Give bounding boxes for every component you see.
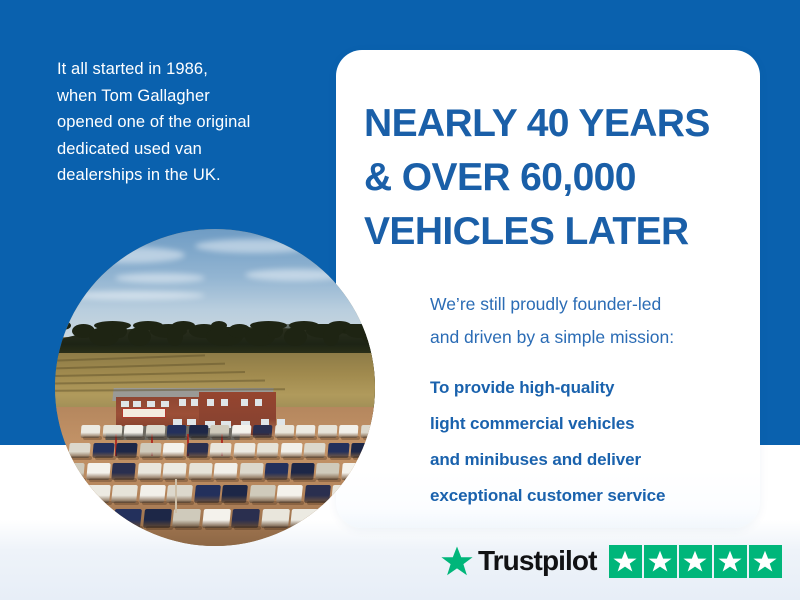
headline-line-3: VEHICLES LATER: [364, 205, 744, 259]
mission-line-1: To provide high-quality: [430, 370, 760, 406]
photo-van: [139, 443, 161, 458]
photo-van: [139, 485, 166, 503]
photo-van: [143, 509, 172, 528]
photo-van: [317, 425, 337, 438]
photo-tree: [55, 321, 71, 330]
trustpilot-star-tile: [679, 545, 712, 578]
lede-line-1: We’re still proudly founder-led: [430, 288, 750, 321]
trustpilot-star-tile: [714, 545, 747, 578]
photo-van: [231, 509, 260, 528]
trustpilot-star-rating: [609, 545, 782, 578]
photo-van: [186, 443, 208, 458]
photo-van: [320, 509, 349, 528]
photo-van: [256, 443, 278, 458]
star-icon: [718, 550, 742, 573]
photo-van: [239, 463, 263, 480]
photo-van: [360, 425, 375, 438]
star-icon: [648, 550, 672, 573]
intro-line-2: when Tom Gallagher: [57, 83, 319, 110]
intro-line-5: dealerships in the UK.: [57, 162, 319, 189]
photo-building-sign: [122, 408, 166, 418]
dealership-photo: [55, 229, 375, 546]
lede-line-2: and driven by a simple mission:: [430, 321, 750, 354]
photo-cloud: [195, 239, 315, 253]
photo-van: [209, 443, 231, 458]
photo-van: [167, 425, 187, 438]
photo-van: [341, 463, 365, 480]
photo-window: [147, 401, 155, 407]
page-title: NEARLY 40 YEARS & OVER 60,000 VEHICLES L…: [364, 97, 744, 259]
photo-van: [280, 443, 302, 458]
photo-tree: [211, 321, 227, 330]
photo-van: [92, 443, 114, 458]
photo-van: [188, 425, 208, 438]
photo-van: [166, 485, 193, 503]
photo-van: [60, 463, 84, 480]
promo-banner: It all started in 1986, when Tom Gallagh…: [0, 0, 800, 600]
photo-van: [304, 485, 331, 503]
trustpilot-wordmark: Trustpilot: [478, 547, 597, 575]
photo-van: [213, 463, 237, 480]
photo-van: [115, 443, 137, 458]
photo-window: [121, 401, 129, 407]
trustpilot-badge[interactable]: Trustpilot: [441, 541, 782, 581]
photo-van: [111, 463, 135, 480]
photo-van: [162, 443, 184, 458]
content-card: NEARLY 40 YEARS & OVER 60,000 VEHICLES L…: [336, 50, 760, 528]
photo-van: [290, 463, 314, 480]
photo-van: [349, 509, 375, 528]
photo-van: [124, 425, 144, 438]
photo-window: [161, 401, 169, 407]
trustpilot-star-tile: [609, 545, 642, 578]
photo-van: [366, 463, 375, 480]
photo-van: [253, 425, 273, 438]
photo-van: [188, 463, 212, 480]
photo-van: [210, 425, 230, 438]
mission-line-2: light commercial vehicles: [430, 406, 760, 442]
photo-cloud: [65, 291, 205, 300]
mission-line-4: exceptional customer service: [430, 478, 760, 514]
intro-line-4: dedicated used van: [57, 136, 319, 163]
photo-van: [56, 485, 83, 503]
photo-van: [290, 509, 319, 528]
trustpilot-star-tile: [749, 545, 782, 578]
photo-cloud: [245, 269, 345, 281]
trustpilot-star-icon: [441, 546, 473, 577]
photo-lamp-post: [175, 479, 177, 513]
photo-van: [264, 463, 288, 480]
photo-van: [162, 463, 186, 480]
photo-window: [241, 399, 248, 406]
photo-window: [207, 399, 214, 406]
photo-van: [233, 443, 255, 458]
photo-van: [276, 485, 303, 503]
intro-paragraph: It all started in 1986, when Tom Gallagh…: [57, 56, 319, 189]
intro-line-1: It all started in 1986,: [57, 56, 319, 83]
photo-van: [86, 463, 110, 480]
photo-van: [145, 425, 165, 438]
photo-cloud: [115, 273, 205, 283]
photo-van: [55, 509, 83, 528]
photo-van: [350, 443, 372, 458]
lede-paragraph: We’re still proudly founder-led and driv…: [430, 288, 750, 354]
star-icon: [683, 550, 707, 573]
photo-van: [296, 425, 316, 438]
photo-van: [221, 485, 248, 503]
trustpilot-logo: Trustpilot: [441, 546, 597, 577]
headline-line-1: NEARLY 40 YEARS: [364, 97, 744, 151]
photo-van: [359, 485, 375, 503]
photo-van: [84, 509, 113, 528]
photo-van: [68, 443, 90, 458]
photo-van: [274, 425, 294, 438]
photo-tree: [267, 324, 283, 338]
photo-van: [303, 443, 325, 458]
photo-van: [231, 425, 251, 438]
headline-line-2: & OVER 60,000: [364, 151, 744, 205]
mission-line-3: and minibuses and deliver: [430, 442, 760, 478]
photo-van: [339, 425, 359, 438]
photo-window: [179, 399, 186, 406]
photo-van: [315, 463, 339, 480]
photo-van: [327, 443, 349, 458]
star-icon: [613, 550, 637, 573]
photo-tree: [111, 324, 127, 338]
intro-line-3: opened one of the original: [57, 109, 319, 136]
mission-statement: To provide high-quality light commercial…: [430, 370, 760, 514]
photo-window: [191, 399, 198, 406]
photo-van: [261, 509, 290, 528]
photo-van: [102, 425, 122, 438]
photo-van: [249, 485, 276, 503]
photo-van: [111, 485, 138, 503]
photo-van: [331, 485, 358, 503]
photo-van: [81, 425, 101, 438]
photo-van: [194, 485, 221, 503]
dealership-photo-scene: [55, 229, 375, 546]
photo-window: [133, 401, 141, 407]
photo-window: [255, 399, 262, 406]
photo-van: [113, 509, 142, 528]
photo-van: [202, 509, 231, 528]
photo-cloud: [75, 247, 185, 263]
photo-van: [137, 463, 161, 480]
trustpilot-star-tile: [644, 545, 677, 578]
star-icon: [753, 550, 777, 573]
photo-window: [221, 399, 228, 406]
photo-van: [84, 485, 111, 503]
